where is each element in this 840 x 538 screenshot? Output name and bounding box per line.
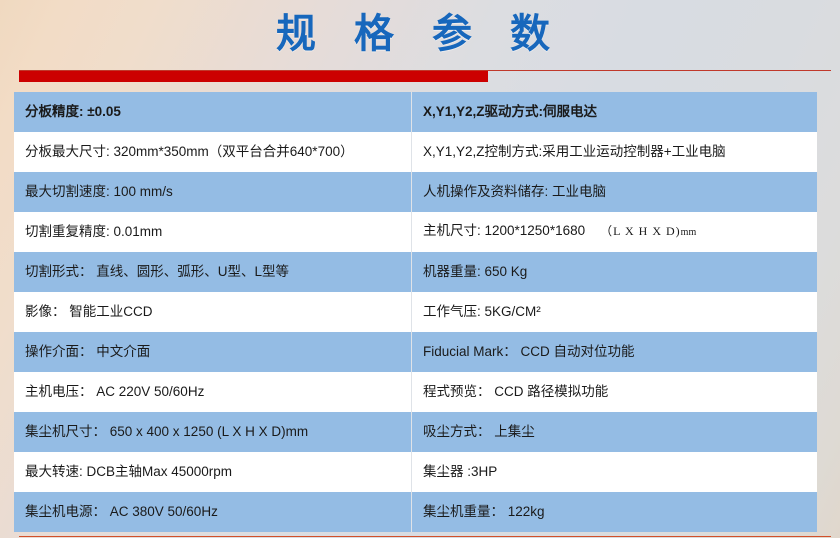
spec-cell-right: 人机操作及资料储存: 工业电脑 [412,172,818,212]
spec-cell-left: 集尘机电源： AC 380V 50/60Hz [14,492,412,532]
spec-cell-left: 切割形式： 直线、圆形、弧形、U型、L型等 [14,252,412,292]
table-row: 集尘机电源： AC 380V 50/60Hz集尘机重量： 122kg [14,492,817,532]
spec-cell-right: X,Y1,Y2,Z控制方式:采用工业运动控制器+工业电脑 [412,132,818,172]
spec-cell-left: 切割重复精度: 0.01mm [14,212,412,252]
spec-cell-right: 吸尘方式： 上集尘 [412,412,818,452]
spec-cell-left: 主机电压： AC 220V 50/60Hz [14,372,412,412]
table-row: 最大转速: DCB主轴Max 45000rpm集尘器 :3HP [14,452,817,492]
spec-cell-right-text: 主机尺寸: 1200*1250*1680 [423,223,585,238]
table-row: 影像： 智能工业CCD工作气压: 5KG/CM² [14,292,817,332]
spec-cell-left: 分板最大尺寸: 320mm*350mm（双平台合并640*700） [14,132,412,172]
page-title: 规 格 参 数 [0,8,840,60]
specification-table: 分板精度: ±0.05X,Y1,Y2,Z驱动方式:伺服电达分板最大尺寸: 320… [14,92,817,532]
table-row: 主机电压： AC 220V 50/60Hz程式预览： CCD 路径模拟功能 [14,372,817,412]
spec-cell-right: Fiducial Mark： CCD 自动对位功能 [412,332,818,372]
spec-cell-left: 分板精度: ±0.05 [14,92,412,132]
table-row: 分板精度: ±0.05X,Y1,Y2,Z驱动方式:伺服电达 [14,92,817,132]
title-underline-thick [19,71,488,82]
footer-rule [19,536,831,537]
spec-cell-left: 操作介面： 中文介面 [14,332,412,372]
table-row: 操作介面： 中文介面Fiducial Mark： CCD 自动对位功能 [14,332,817,372]
spec-cell-right-dimension-note: （L X H X D) [600,224,681,238]
spec-cell-right: X,Y1,Y2,Z驱动方式:伺服电达 [412,92,818,132]
spec-slide: 规 格 参 数 分板精度: ±0.05X,Y1,Y2,Z驱动方式:伺服电达分板最… [0,0,840,538]
spec-cell-right: 程式预览： CCD 路径模拟功能 [412,372,818,412]
spec-cell-left: 影像： 智能工业CCD [14,292,412,332]
table-row: 切割重复精度: 0.01mm主机尺寸: 1200*1250*1680 （L X … [14,212,817,252]
spec-cell-right: 集尘机重量： 122kg [412,492,818,532]
table-row: 集尘机尺寸： 650 x 400 x 1250 (L X H X D)mm吸尘方… [14,412,817,452]
spec-cell-left: 最大转速: DCB主轴Max 45000rpm [14,452,412,492]
spec-cell-right-unit: mm [681,227,697,238]
table-row: 切割形式： 直线、圆形、弧形、U型、L型等机器重量: 650 Kg [14,252,817,292]
spec-cell-right: 机器重量: 650 Kg [412,252,818,292]
spec-cell-left: 集尘机尺寸： 650 x 400 x 1250 (L X H X D)mm [14,412,412,452]
spec-cell-left: 最大切割速度: 100 mm/s [14,172,412,212]
spec-cell-right: 主机尺寸: 1200*1250*1680 （L X H X D)mm [412,212,818,252]
table-row: 最大切割速度: 100 mm/s人机操作及资料储存: 工业电脑 [14,172,817,212]
table-row: 分板最大尺寸: 320mm*350mm（双平台合并640*700）X,Y1,Y2… [14,132,817,172]
spec-cell-right: 集尘器 :3HP [412,452,818,492]
spec-cell-right: 工作气压: 5KG/CM² [412,292,818,332]
